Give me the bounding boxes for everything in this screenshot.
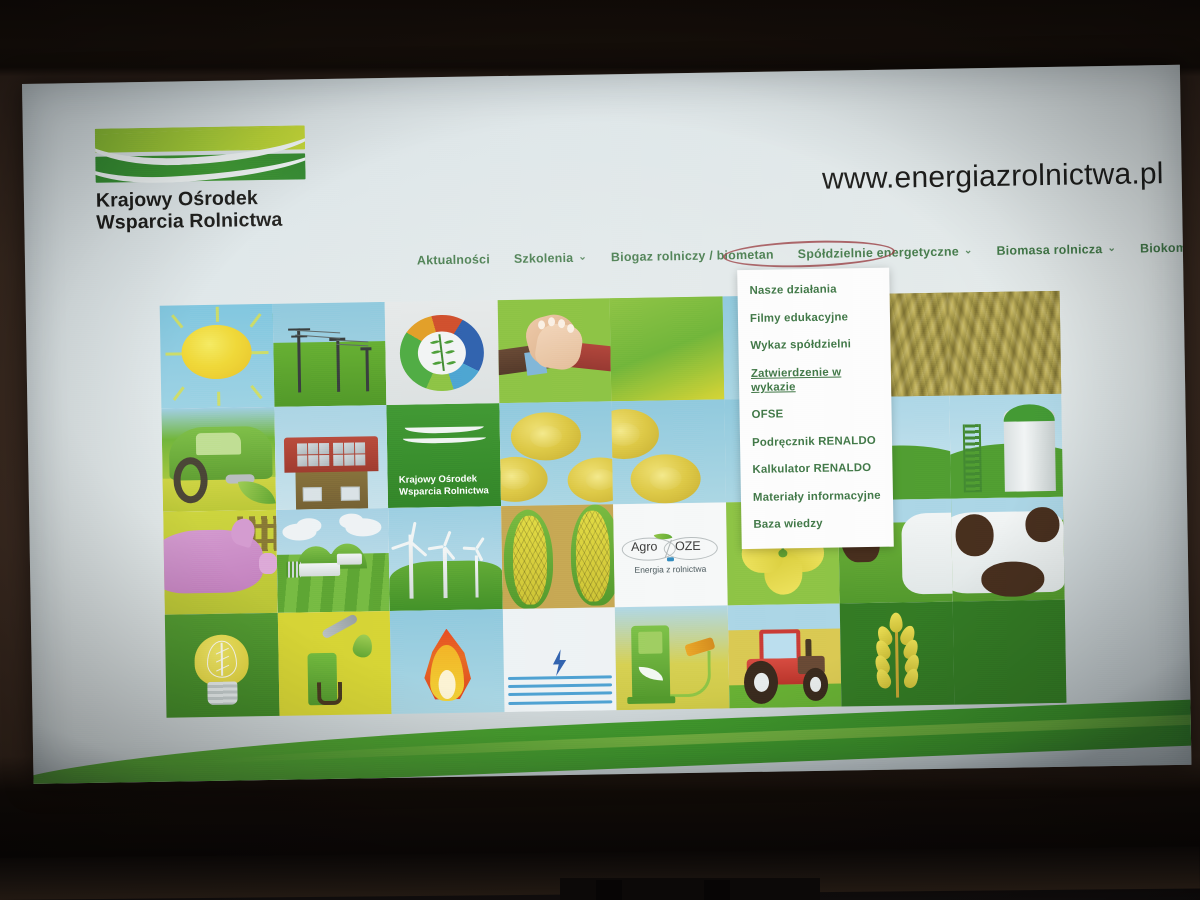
dropdown-item-filmy-edukacyjne[interactable]: Filmy edukacyjne <box>738 303 890 333</box>
mosaic-tile-corn-cobs <box>501 504 615 609</box>
kowr-name-line2: Wsparcia Rolnictwa <box>96 208 314 234</box>
mosaic-tile-fuel-pump <box>615 605 729 710</box>
image-mosaic: Krajowy Ośrodek Wsparcia Rolnictwa <box>160 291 1067 718</box>
nav-item-label: Spółdzielnie energetyczne <box>798 244 959 261</box>
dropdown-item-ofse[interactable]: OFSE <box>739 400 891 430</box>
kowr-logo-text: Krajowy Ośrodek Wsparcia Rolnictwa <box>96 186 315 234</box>
nav-item-aktualnosci[interactable]: Aktualności <box>417 252 490 267</box>
chevron-down-icon: ⌄ <box>1107 244 1116 254</box>
site-navigation: Aktualności Szkolenia ⌄ Biogaz rolniczy … <box>417 240 1192 268</box>
nav-item-label: Aktualności <box>417 252 490 267</box>
mosaic-tile-green-car <box>161 407 275 512</box>
site-url: www.energiazrolnictwa.pl <box>822 157 1164 197</box>
mosaic-tile-sun <box>160 304 274 409</box>
dropdown-item-podrecznik-renaldo[interactable]: Podręcznik RENALDO <box>740 427 892 457</box>
mosaic-tile-solar-house <box>274 405 388 510</box>
mosaic-tile-light-bulb-leaf <box>165 613 279 718</box>
mosaic-tile-wheat-ear <box>840 602 954 707</box>
dropdown-item-materialy-informacyjne[interactable]: Materiały informacyjne <box>741 482 893 512</box>
room-photo: Krajowy Ośrodek Wsparcia Rolnictwa Agro … <box>0 0 1200 900</box>
mosaic-tile-cow-2 <box>951 497 1065 602</box>
dropdown-item-wykaz-spoldzielni[interactable]: Wykaz spółdzielni <box>738 330 890 360</box>
fuel-drop-icon <box>351 632 374 658</box>
kowr-logo-mark <box>95 125 306 183</box>
mosaic-tile-recycling-leaf <box>385 300 499 405</box>
mosaic-tile-wheat-ear-2 <box>952 600 1066 705</box>
nav-item-label: Biomasa rolnicza <box>996 242 1102 258</box>
mosaic-tile-wood-pellets-2 <box>947 291 1061 396</box>
mosaic-tile-hay-bales-2 <box>611 399 725 504</box>
mosaic-tile-kowr-logo: Krajowy Ośrodek Wsparcia Rolnictwa <box>386 403 500 508</box>
nav-item-biomasa-rolnicza[interactable]: Biomasa rolnicza ⌄ <box>996 242 1116 258</box>
nav-item-spoldzielnie-energetyczne[interactable]: Spółdzielnie energetyczne ⌄ <box>798 244 973 261</box>
nav-item-label: Biogaz rolniczy / biometan <box>611 248 774 265</box>
floor-marker <box>704 880 730 900</box>
mosaic-tile-hydro-power <box>502 607 616 712</box>
floor-marker <box>596 880 622 900</box>
chevron-down-icon: ⌄ <box>964 246 973 256</box>
dropdown-item-kalkulator-renaldo[interactable]: Kalkulator RENALDO <box>740 454 892 484</box>
agrooze-tile-word-oze: OZE <box>675 539 701 553</box>
dropdown-menu-spoldzielnie-energetyczne: Nasze działania Filmy edukacyjne Wykaz s… <box>737 268 894 549</box>
mosaic-tile-fuel-nozzle <box>277 611 391 716</box>
nav-item-szkolenia[interactable]: Szkolenia ⌄ <box>514 251 587 266</box>
slide: Krajowy Ośrodek Wsparcia Rolnictwa Agro … <box>22 65 1191 784</box>
mosaic-tile-silo-2 <box>949 394 1063 499</box>
mosaic-tile-biogas-plant <box>276 508 390 613</box>
mosaic-tile-hay-bales <box>499 401 613 506</box>
nav-item-biogaz-rolniczy-biometan[interactable]: Biogaz rolniczy / biometan <box>611 248 774 265</box>
dropdown-item-baza-wiedzy[interactable]: Baza wiedzy <box>741 509 893 539</box>
kowr-logo: Krajowy Ośrodek Wsparcia Rolnictwa <box>95 125 315 234</box>
kowr-tile-line2: Wsparcia Rolnictwa <box>399 485 489 498</box>
mosaic-tile-handshake <box>497 298 611 403</box>
plug-icon <box>667 557 674 561</box>
mosaic-tile-tractor <box>727 604 841 709</box>
mosaic-tile-green-field <box>610 296 724 401</box>
chevron-down-icon: ⌄ <box>578 253 587 263</box>
corn-icon <box>512 516 547 605</box>
agrooze-tile-tagline: Energia z rolnictwa <box>634 564 706 575</box>
projection-screen: Krajowy Ośrodek Wsparcia Rolnictwa Agro … <box>22 65 1191 784</box>
mosaic-tile-wind-turbines <box>388 506 502 611</box>
nav-item-label: Szkolenia <box>514 251 574 266</box>
mosaic-tile-power-lines <box>272 302 386 407</box>
agrooze-tile-word-agro: Agro <box>631 540 658 554</box>
mosaic-tile-pig <box>163 510 277 615</box>
dropdown-item-nasze-dzialania[interactable]: Nasze działania <box>737 276 889 306</box>
kowr-tile-line1: Krajowy Ośrodek <box>399 474 489 487</box>
mosaic-tile-agrooze-logo: Agro OZE Energia z rolnictwa <box>613 502 727 607</box>
mosaic-tile-flame <box>390 609 504 714</box>
dropdown-item-zatwierdzenie-w-wykazie[interactable]: Zatwierdzenie w wykazie <box>739 358 892 402</box>
silo-icon <box>1003 410 1056 491</box>
sun-icon <box>181 325 252 380</box>
